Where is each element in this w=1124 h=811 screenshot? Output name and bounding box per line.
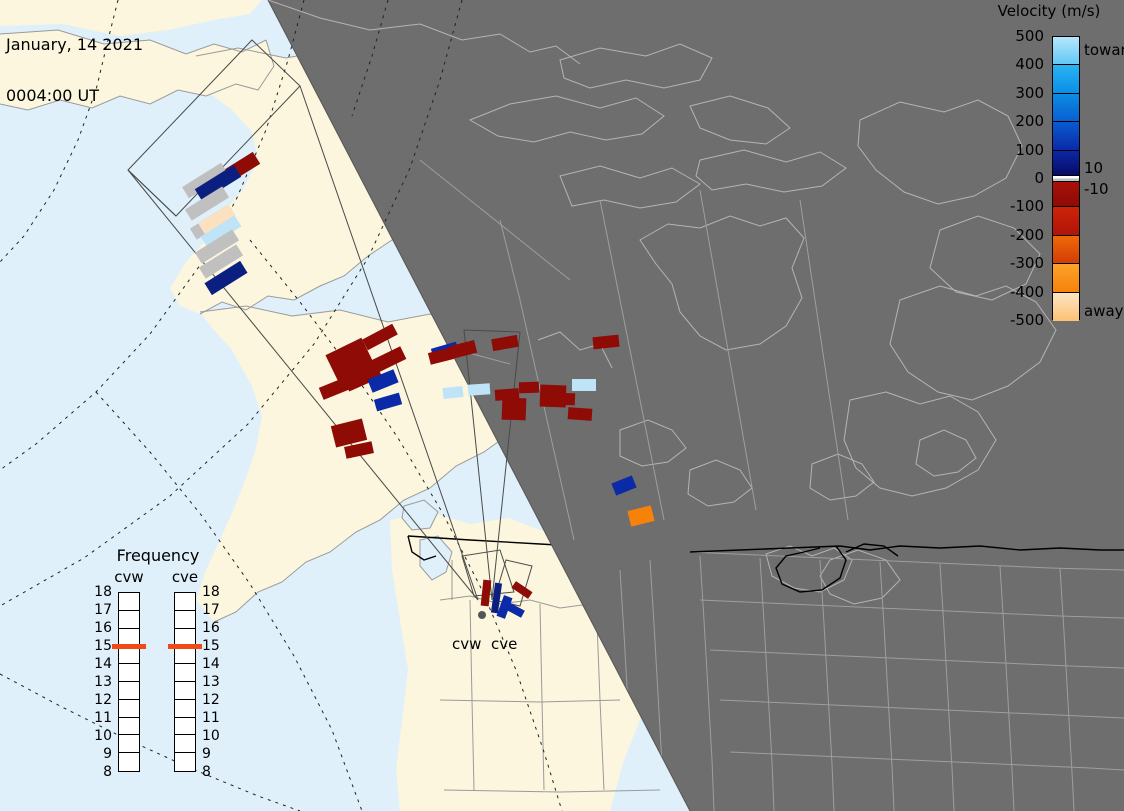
colorbar-band	[1053, 65, 1079, 93]
colorbar-band	[1053, 264, 1079, 292]
frequency-scale-cell	[119, 753, 139, 771]
frequency-tick-label: 8	[202, 764, 226, 780]
colorbar-tick-label: -500	[1010, 311, 1044, 329]
frequency-scale-cell	[175, 753, 195, 771]
colorbar-band	[1053, 151, 1079, 177]
frequency-scale-cell	[175, 700, 195, 718]
colorbar-side-label: -10	[1084, 180, 1109, 198]
colorbar-side-label: 10	[1084, 159, 1103, 177]
colorbar-tick-label: 0	[1034, 169, 1044, 187]
frequency-scale-cell	[119, 682, 139, 700]
frequency-tick-label: 11	[88, 710, 112, 726]
frequency-scale-cell	[175, 646, 195, 664]
colorbar-band	[1053, 236, 1079, 264]
colorbar-band	[1053, 207, 1079, 235]
colorbar-band	[1053, 37, 1079, 65]
colorbar-side-label: away	[1084, 302, 1124, 320]
radar-site-label-cve: cve	[491, 635, 517, 653]
colorbar-side-label: toward	[1084, 41, 1124, 59]
frequency-scale-cell	[119, 718, 139, 736]
frequency-scale-cell	[119, 700, 139, 718]
velocity-legend-title: Velocity (m/s)	[982, 2, 1116, 20]
frequency-scale-cell	[119, 735, 139, 753]
timestamp-date: January, 14 2021	[6, 36, 143, 53]
frequency-scale-cell	[175, 611, 195, 629]
frequency-tick-label: 15	[202, 638, 226, 654]
frequency-scale-cell	[119, 593, 139, 611]
colorbar-band	[1053, 293, 1079, 321]
frequency-scale-cell	[175, 593, 195, 611]
frequency-tick-label: 16	[88, 620, 112, 636]
frequency-scale-cell	[175, 718, 195, 736]
velocity-legend: Velocity (m/s) 5004003002001000-100-200-…	[980, 0, 1124, 330]
colorbar-band	[1053, 182, 1079, 208]
colorbar-tick-label: 300	[1015, 84, 1044, 102]
colorbar-tick-label: -300	[1010, 254, 1044, 272]
colorbar-tick-label: -100	[1010, 197, 1044, 215]
frequency-tick-label: 11	[202, 710, 226, 726]
frequency-scale-cell	[119, 646, 139, 664]
colorbar-band	[1053, 122, 1079, 150]
frequency-tick-label: 17	[88, 602, 112, 618]
radar-site-marker	[478, 611, 486, 619]
frequency-tick-label: 10	[88, 728, 112, 744]
frequency-tick-label: 12	[88, 692, 112, 708]
frequency-tick-label: 12	[202, 692, 226, 708]
frequency-tick-label: 14	[88, 656, 112, 672]
radar-site-label-cvw: cvw	[452, 635, 481, 653]
timestamp-time: 0004:00 UT	[6, 87, 143, 104]
frequency-legend-title: Frequency	[88, 546, 228, 565]
frequency-legend: Frequency cvwcve181817171616151514141313…	[88, 546, 228, 776]
frequency-tick-label: 9	[88, 746, 112, 762]
frequency-tick-label: 17	[202, 602, 226, 618]
colorbar-band	[1053, 94, 1079, 122]
superdarn-velocity-map: January, 14 2021 0004:00 UT Velocity (m/…	[0, 0, 1124, 811]
frequency-column-title-cvw: cvw	[106, 568, 152, 586]
timestamp: January, 14 2021 0004:00 UT	[6, 2, 143, 138]
frequency-tick-label: 18	[202, 584, 226, 600]
frequency-tick-label: 13	[202, 674, 226, 690]
velocity-colorbar	[1052, 36, 1080, 320]
frequency-scale-cell	[175, 682, 195, 700]
frequency-scale-cell	[119, 611, 139, 629]
frequency-scale-cell	[119, 664, 139, 682]
colorbar-tick-label: 100	[1015, 141, 1044, 159]
frequency-scale-cve	[174, 592, 196, 772]
velocity-side-labels: toward10-10away	[1084, 36, 1124, 320]
frequency-tick-label: 8	[88, 764, 112, 780]
frequency-scale-cell	[175, 664, 195, 682]
colorbar-tick-label: 400	[1015, 55, 1044, 73]
colorbar-tick-label: 500	[1015, 27, 1044, 45]
frequency-tick-label: 9	[202, 746, 226, 762]
frequency-scale-cvw	[118, 592, 140, 772]
frequency-marker-cve	[168, 644, 202, 649]
frequency-tick-label: 13	[88, 674, 112, 690]
frequency-marker-cvw	[112, 644, 146, 649]
frequency-tick-label: 10	[202, 728, 226, 744]
colorbar-tick-label: -200	[1010, 226, 1044, 244]
velocity-tick-labels: 5004003002001000-100-200-300-400-500	[980, 36, 1048, 320]
frequency-tick-label: 14	[202, 656, 226, 672]
colorbar-tick-label: -400	[1010, 283, 1044, 301]
frequency-tick-label: 16	[202, 620, 226, 636]
frequency-tick-label: 18	[88, 584, 112, 600]
colorbar-tick-label: 200	[1015, 112, 1044, 130]
frequency-scale-cell	[175, 735, 195, 753]
frequency-tick-label: 15	[88, 638, 112, 654]
